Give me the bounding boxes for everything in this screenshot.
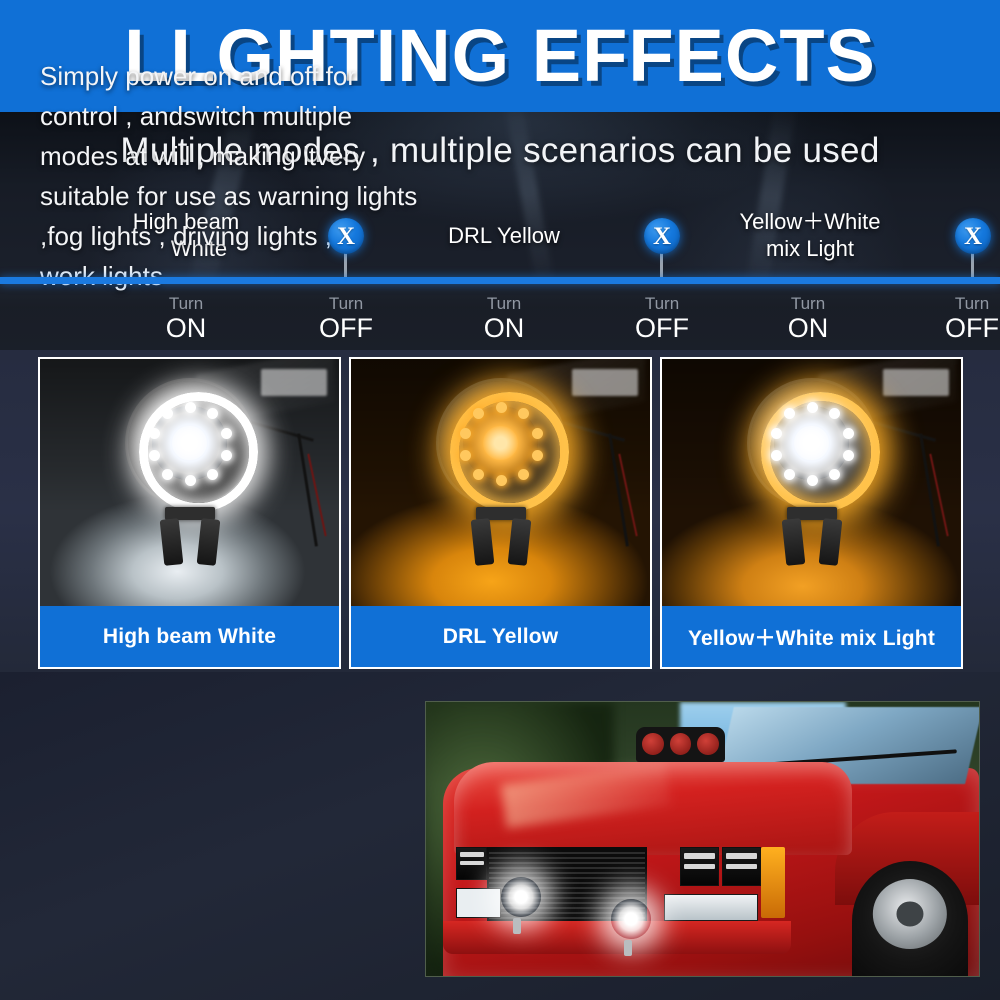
x-badge-2[interactable]: X: [644, 218, 680, 254]
panel-caption-bar: DRL Yellow: [351, 606, 650, 667]
scoop-port: [642, 733, 663, 755]
led-lamp: [128, 381, 252, 505]
bracket-leg: [818, 518, 842, 566]
switch-state-prefix: Turn: [748, 294, 868, 313]
headlight-right-inner: [680, 847, 719, 885]
bracket-leg: [159, 518, 183, 566]
scoop-port: [697, 733, 718, 755]
led-lamp: [439, 381, 563, 505]
lower-light-bar: [664, 894, 758, 921]
bracket-leg: [507, 518, 531, 566]
switch-state-value: OFF: [602, 313, 722, 343]
description-text: Simply power on and off for control , an…: [40, 56, 420, 296]
badge-stem-3: [971, 252, 974, 279]
switch-state-prefix: Turn: [912, 294, 1000, 313]
led-work-light-left: [501, 877, 541, 917]
switch-state-1: Turn ON: [126, 294, 246, 343]
lamp-photo-white: [40, 359, 339, 606]
led-diode: [784, 408, 795, 419]
x-badge-glyph: X: [653, 224, 671, 249]
switch-state-value: ON: [444, 313, 564, 343]
infographic-page: LLGHTING EFFECTS Multiple modes , multip…: [0, 0, 1000, 1000]
switch-state-prefix: Turn: [444, 294, 564, 313]
wheel-rim: [873, 879, 947, 949]
lamp-photo-mix: [662, 359, 961, 606]
badge-stem-1: [344, 252, 347, 279]
led-diode: [473, 408, 484, 419]
mode-label-mix: Yellow＋White mix Light: [712, 208, 908, 262]
badge-stem-2: [660, 252, 663, 279]
front-wheel: [852, 861, 968, 977]
lamp-photo-amber: [351, 359, 650, 606]
headlight-left: [456, 847, 486, 880]
mode-panel-high-beam-white[interactable]: High beam White: [38, 357, 341, 669]
switch-state-5: Turn ON: [748, 294, 868, 343]
switch-state-prefix: Turn: [602, 294, 722, 313]
switch-state-3: Turn ON: [444, 294, 564, 343]
led-diode: [162, 469, 173, 480]
turn-signal-amber: [761, 847, 786, 918]
led-lamp: [750, 381, 874, 505]
lamp-bracket: [781, 507, 843, 565]
panel-caption-text: Yellow＋White mix Light: [688, 622, 935, 652]
lamp-scene: [40, 359, 339, 606]
lamp-scene: [351, 359, 650, 606]
x-badge-1[interactable]: X: [328, 218, 364, 254]
ceiling-box: [261, 369, 327, 396]
mode-panels: High beam White: [0, 350, 1000, 672]
ceiling-box: [572, 369, 638, 396]
bracket-leg: [196, 518, 220, 566]
switch-state-4: Turn OFF: [602, 294, 722, 343]
scoop-port: [670, 733, 691, 755]
headlight-right-outer: [722, 847, 761, 885]
switch-state-value: OFF: [912, 313, 1000, 343]
light-mount-left: [513, 918, 521, 934]
ceiling-box: [883, 369, 949, 396]
switch-state-prefix: Turn: [126, 294, 246, 313]
hood-scoop: [636, 727, 724, 763]
led-diode: [162, 408, 173, 419]
bracket-leg: [781, 518, 805, 566]
wheel-hub: [897, 901, 924, 926]
switch-state-value: ON: [748, 313, 868, 343]
x-badge-glyph: X: [964, 224, 982, 249]
mode-label-drl-yellow: DRL Yellow: [412, 222, 596, 249]
led-diode: [473, 469, 484, 480]
lamp-bracket: [159, 507, 221, 565]
switch-state-prefix: Turn: [286, 294, 406, 313]
switch-state-2: Turn OFF: [286, 294, 406, 343]
switch-state-value: OFF: [286, 313, 406, 343]
marker-light-left: [456, 888, 500, 918]
bracket-leg: [470, 518, 494, 566]
mode-label-line1: DRL Yellow: [448, 223, 560, 248]
mode-panel-drl-yellow[interactable]: DRL Yellow: [349, 357, 652, 669]
x-badge-3[interactable]: X: [955, 218, 991, 254]
mode-label-line2: mix Light: [712, 235, 908, 262]
light-mount-right: [624, 940, 632, 956]
lamp-bracket: [470, 507, 532, 565]
switch-state-value: ON: [126, 313, 246, 343]
panel-caption-bar: Yellow＋White mix Light: [662, 606, 961, 667]
panel-caption-bar: High beam White: [40, 606, 339, 667]
mode-panel-mix-light[interactable]: Yellow＋White mix Light: [660, 357, 963, 669]
x-badge-glyph: X: [337, 224, 355, 249]
blue-divider: [0, 277, 1000, 284]
switch-state-6: Turn OFF: [912, 294, 1000, 343]
panel-caption-text: DRL Yellow: [443, 625, 559, 649]
led-diode: [784, 469, 795, 480]
panel-caption-text: High beam White: [103, 625, 276, 649]
truck-photo: [425, 701, 980, 977]
mode-label-line1: Yellow＋White: [739, 209, 880, 234]
lamp-scene: [662, 359, 961, 606]
